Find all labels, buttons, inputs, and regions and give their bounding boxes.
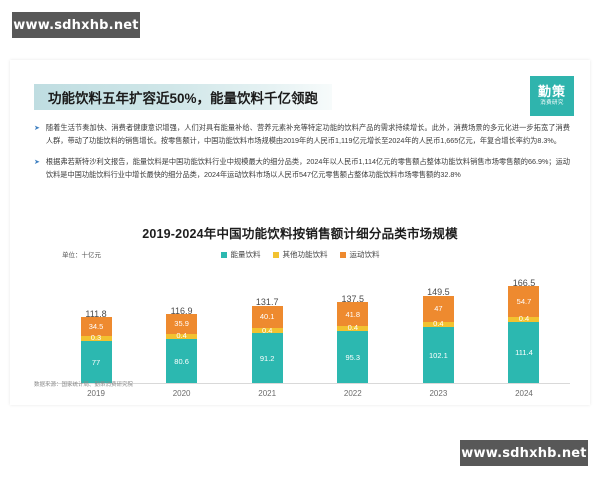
chart-segment-value-label: 91.2 xyxy=(260,354,275,363)
chart-bar[interactable]: 35.90.480.6 xyxy=(166,319,197,384)
chart-plot-area: 111.834.50.377116.935.90.480.6131.740.10… xyxy=(10,274,590,384)
chart-bar-group: 116.935.90.480.6 xyxy=(144,274,220,384)
legend-label: 运动饮料 xyxy=(350,249,380,260)
chart-segment-value-label: 102.1 xyxy=(429,351,448,360)
list-item-text: 根据弗若斯特沙利文报告，能量饮料是中国功能饮料行业中规模最大的细分品类，2024… xyxy=(46,156,570,181)
chart-segment-value-label: 95.3 xyxy=(345,353,360,362)
chart-segment-value-label: 0.3 xyxy=(91,333,101,342)
chart-segment-value-label: 0.4 xyxy=(433,319,443,328)
legend-item-energy: 能量饮料 xyxy=(221,249,261,260)
chart-bar[interactable]: 54.70.4111.4 xyxy=(508,291,539,384)
chart-segment-value-label: 34.5 xyxy=(89,322,104,331)
chart-bar-group: 137.541.80.495.3 xyxy=(315,274,391,384)
legend-swatch-icon xyxy=(221,252,227,258)
chart-segment-value-label: 40.1 xyxy=(260,312,275,321)
chart-bar-group: 166.554.70.4111.4 xyxy=(486,274,562,384)
chart-segment-value-label: 54.7 xyxy=(517,297,532,306)
chart-x-tick-label: 2019 xyxy=(58,389,134,398)
chart-source-note: 数据来源：国家统计局、勤策消费研究院 xyxy=(34,380,133,388)
chart-bar-segment[interactable]: 77 xyxy=(81,341,112,384)
chart-segment-value-label: 0.4 xyxy=(262,326,272,335)
chart-bar-segment[interactable]: 102.1 xyxy=(423,327,454,384)
chart-unit-label: 单位：十亿元 xyxy=(62,249,101,259)
legend-label: 能量饮料 xyxy=(231,249,261,260)
chart-segment-value-label: 41.8 xyxy=(345,310,360,319)
chart-x-tick-label: 2024 xyxy=(486,389,562,398)
chart-bar[interactable]: 34.50.377 xyxy=(81,322,112,384)
slide-card: 勤策 消费研究 功能饮料五年扩容近50%，能量饮料千亿领跑 ➤ 随着生活节奏加快… xyxy=(10,60,590,405)
chart-bar-segment[interactable]: 95.3 xyxy=(337,331,368,384)
chart-segment-value-label: 35.9 xyxy=(174,319,189,328)
watermark-bottom: www.sdhxhb.net xyxy=(460,440,588,466)
brand-logo-main: 勤策 xyxy=(538,85,566,98)
chart-x-axis-labels: 201920202021202220232024 xyxy=(10,389,590,398)
chart-bar-group: 149.5470.4102.1 xyxy=(400,274,476,384)
bullet-list: ➤ 随着生活节奏加快、消费者健康意识增强，人们对具有能量补给、营养元素补充等特定… xyxy=(34,122,570,190)
brand-logo: 勤策 消费研究 xyxy=(530,76,574,116)
watermark-top: www.sdhxhb.net xyxy=(12,12,140,38)
chart-bar-segment[interactable]: 41.8 xyxy=(337,302,368,325)
legend-swatch-icon xyxy=(340,252,346,258)
chart-segment-value-label: 77 xyxy=(92,358,100,367)
list-item-text: 随着生活节奏加快、消费者健康意识增强，人们对具有能量补给、营养元素补充等特定功能… xyxy=(46,122,570,147)
chart-x-tick-label: 2021 xyxy=(229,389,305,398)
chart-bar-segment[interactable]: 80.6 xyxy=(166,339,197,384)
chart-segment-value-label: 80.6 xyxy=(174,357,189,366)
page-title: 功能饮料五年扩容近50%，能量饮料千亿领跑 xyxy=(34,84,332,110)
chart-bar-group: 111.834.50.377 xyxy=(58,274,134,384)
chart-segment-value-label: 47 xyxy=(434,304,442,313)
chart-bar[interactable]: 40.10.491.2 xyxy=(252,310,283,384)
chart-bar-segment[interactable]: 54.7 xyxy=(508,286,539,317)
brand-logo-sub: 消费研究 xyxy=(540,101,564,107)
chart: 2019-2024年中国功能饮料按销售额计细分品类市场规模 能量饮料 其他功能饮… xyxy=(10,223,590,398)
chart-title: 2019-2024年中国功能饮料按销售额计细分品类市场规模 xyxy=(10,223,590,242)
chart-x-tick-label: 2023 xyxy=(400,389,476,398)
chart-bar[interactable]: 41.80.495.3 xyxy=(337,307,368,384)
chart-x-tick-label: 2020 xyxy=(144,389,220,398)
legend-label: 其他功能饮料 xyxy=(283,249,328,260)
arrow-bullet-icon: ➤ xyxy=(34,159,40,166)
arrow-bullet-icon: ➤ xyxy=(34,125,40,132)
chart-bar-segment[interactable]: 111.4 xyxy=(508,322,539,384)
chart-segment-value-label: 0.4 xyxy=(176,331,186,340)
list-item: ➤ 根据弗若斯特沙利文报告，能量饮料是中国功能饮料行业中规模最大的细分品类，20… xyxy=(34,156,570,181)
chart-bar-group: 131.740.10.491.2 xyxy=(229,274,305,384)
chart-bar-segment[interactable]: 91.2 xyxy=(252,333,283,384)
chart-segment-value-label: 0.4 xyxy=(519,314,529,323)
legend-item-other: 其他功能饮料 xyxy=(273,249,328,260)
chart-bar-segment[interactable]: 47 xyxy=(423,296,454,322)
chart-bar[interactable]: 470.4102.1 xyxy=(423,300,454,384)
chart-segment-value-label: 111.4 xyxy=(515,348,533,357)
legend-item-sports: 运动饮料 xyxy=(340,249,380,260)
chart-x-tick-label: 2022 xyxy=(315,389,391,398)
list-item: ➤ 随着生活节奏加快、消费者健康意识增强，人们对具有能量补给、营养元素补充等特定… xyxy=(34,122,570,147)
chart-segment-value-label: 0.4 xyxy=(348,323,358,332)
legend-swatch-icon xyxy=(273,252,279,258)
